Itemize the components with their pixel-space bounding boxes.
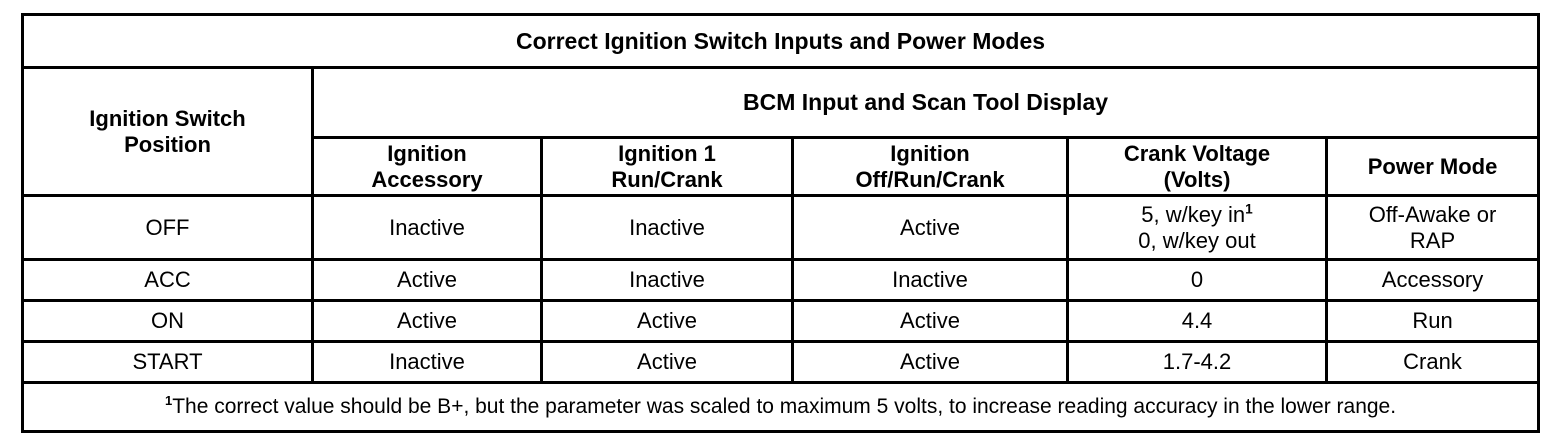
cell-off-ignition-off-run-crank: Active — [793, 196, 1068, 260]
cell-start-ignition-1-run-crank: Active — [542, 342, 793, 383]
cell-on-crank-voltage: 4.4 — [1068, 301, 1327, 342]
table-group-header-row: Ignition Switch Position BCM Input and S… — [23, 68, 1539, 138]
cell-acc-ignition-accessory: Active — [313, 260, 542, 301]
table-row: OFF Inactive Inactive Active 5, w/key in… — [23, 196, 1539, 260]
table-footnote-row: 1The correct value should be B+, but the… — [23, 383, 1539, 432]
cell-start-power-mode: Crank — [1327, 342, 1539, 383]
cell-on-ignition-accessory: Active — [313, 301, 542, 342]
column-header-crank-voltage-line2: (Volts) — [1073, 167, 1321, 193]
cell-position-start: START — [23, 342, 313, 383]
cell-acc-crank-voltage: 0 — [1068, 260, 1327, 301]
column-header-ignition-accessory-line2: Accessory — [318, 167, 536, 193]
table-title-row: Correct Ignition Switch Inputs and Power… — [23, 15, 1539, 68]
cell-start-ignition-accessory: Inactive — [313, 342, 542, 383]
table-title: Correct Ignition Switch Inputs and Power… — [23, 15, 1539, 68]
cell-off-ignition-1-run-crank: Inactive — [542, 196, 793, 260]
cell-position-acc: ACC — [23, 260, 313, 301]
column-header-crank-voltage: Crank Voltage (Volts) — [1068, 138, 1327, 196]
cell-acc-ignition-1-run-crank: Inactive — [542, 260, 793, 301]
column-header-ignition-off-run-crank-line2: Off/Run/Crank — [798, 167, 1062, 193]
spec-table-container: Correct Ignition Switch Inputs and Power… — [21, 13, 1537, 407]
cell-on-ignition-1-run-crank: Active — [542, 301, 793, 342]
column-header-ignition-1-run-crank: Ignition 1 Run/Crank — [542, 138, 793, 196]
column-header-ignition-switch-position-line1: Ignition Switch — [28, 106, 307, 132]
cell-position-on: ON — [23, 301, 313, 342]
table-footnote: 1The correct value should be B+, but the… — [23, 383, 1539, 432]
cell-off-power-mode-line2: RAP — [1332, 228, 1533, 254]
column-header-crank-voltage-line1: Crank Voltage — [1073, 141, 1321, 167]
cell-acc-power-mode: Accessory — [1327, 260, 1539, 301]
column-header-ignition-off-run-crank-line1: Ignition — [798, 141, 1062, 167]
column-header-ignition-switch-position-line2: Position — [28, 132, 307, 158]
column-header-ignition-switch-position: Ignition Switch Position — [23, 68, 313, 196]
column-header-power-mode-line1: Power Mode — [1332, 154, 1533, 180]
cell-off-crank-voltage: 5, w/key in1 0, w/key out — [1068, 196, 1327, 260]
column-header-ignition-off-run-crank: Ignition Off/Run/Crank — [793, 138, 1068, 196]
table-row: ACC Active Inactive Inactive 0 Accessory — [23, 260, 1539, 301]
cell-start-crank-voltage: 1.7-4.2 — [1068, 342, 1327, 383]
cell-position-off: OFF — [23, 196, 313, 260]
cell-acc-ignition-off-run-crank: Inactive — [793, 260, 1068, 301]
cell-start-ignition-off-run-crank: Active — [793, 342, 1068, 383]
cell-off-crank-voltage-line1: 5, w/key in1 — [1073, 202, 1321, 228]
footnote-marker-superscript: 1 — [1245, 202, 1253, 217]
column-header-ignition-accessory: Ignition Accessory — [313, 138, 542, 196]
table-row: ON Active Active Active 4.4 Run — [23, 301, 1539, 342]
column-header-power-mode: Power Mode — [1327, 138, 1539, 196]
table-row: START Inactive Active Active 1.7-4.2 Cra… — [23, 342, 1539, 383]
cell-on-ignition-off-run-crank: Active — [793, 301, 1068, 342]
ignition-switch-power-modes-table: Correct Ignition Switch Inputs and Power… — [21, 13, 1540, 433]
group-header-bcm-input-and-scan-tool-display: BCM Input and Scan Tool Display — [313, 68, 1539, 138]
column-header-ignition-1-run-crank-line1: Ignition 1 — [547, 141, 787, 167]
cell-off-power-mode-line1: Off-Awake or — [1332, 202, 1533, 228]
column-header-ignition-accessory-line1: Ignition — [318, 141, 536, 167]
cell-off-crank-voltage-line1-text: 5, w/key in — [1141, 202, 1245, 227]
column-header-ignition-1-run-crank-line2: Run/Crank — [547, 167, 787, 193]
table-page: Correct Ignition Switch Inputs and Power… — [0, 0, 1568, 424]
cell-off-ignition-accessory: Inactive — [313, 196, 542, 260]
footnote-text: The correct value should be B+, but the … — [172, 395, 1396, 418]
cell-off-crank-voltage-line2: 0, w/key out — [1073, 228, 1321, 254]
cell-on-power-mode: Run — [1327, 301, 1539, 342]
cell-off-power-mode: Off-Awake or RAP — [1327, 196, 1539, 260]
